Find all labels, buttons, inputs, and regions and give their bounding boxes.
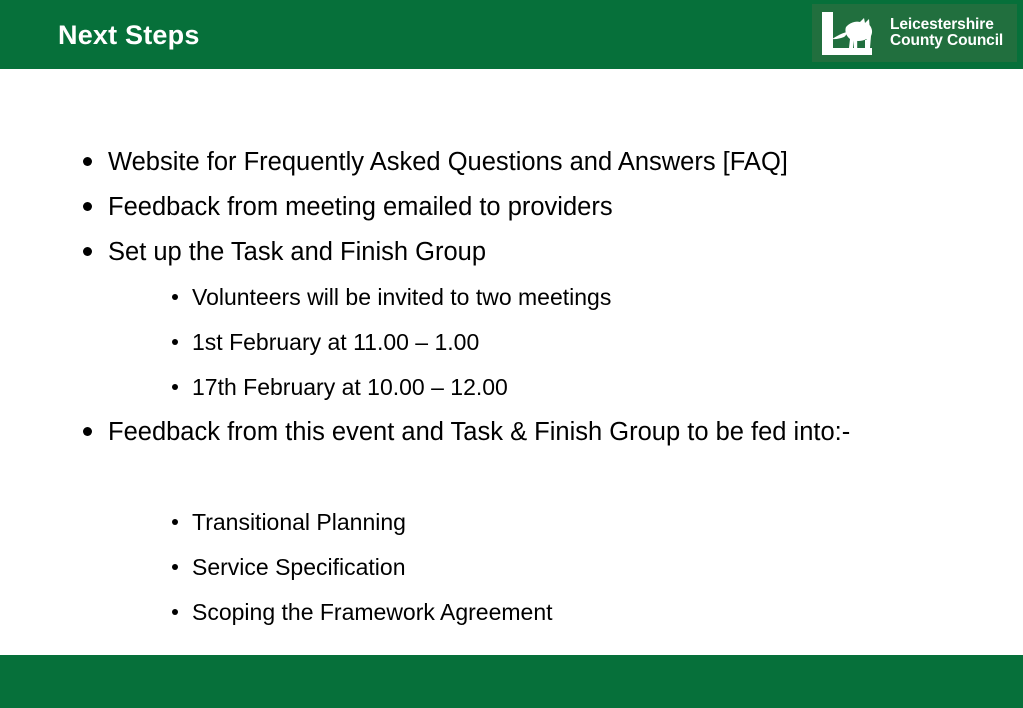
- sub-bullet-item: Service Specification: [0, 545, 1023, 590]
- sub-bullet-text: Volunteers will be invited to two meetin…: [192, 275, 1023, 320]
- bullet-text: Set up the Task and Finish Group: [108, 230, 1023, 275]
- sub-bullet-text: 1st February at 11.00 – 1.00: [192, 320, 1023, 365]
- sub-bullet-marker-icon: [172, 500, 184, 545]
- bullet-marker-icon: [83, 140, 95, 185]
- bullet-item: Feedback from meeting emailed to provide…: [0, 185, 1023, 230]
- sub-bullet-text: Transitional Planning: [192, 500, 1023, 545]
- bullet-text: Feedback from meeting emailed to provide…: [108, 185, 1023, 230]
- bullet-marker-icon: [83, 230, 95, 275]
- page-title: Next Steps: [58, 22, 200, 49]
- sub-bullet-item: 17th February at 10.00 – 12.00: [0, 365, 1023, 410]
- bullet-marker-icon: [83, 185, 95, 230]
- logo-wordmark: Leicestershire County Council: [890, 17, 1003, 49]
- leicestershire-fox-emblem: [818, 9, 884, 57]
- sub-bullet-marker-icon: [172, 275, 184, 320]
- logo-line-2: County Council: [890, 33, 1003, 49]
- sub-bullet-item: Volunteers will be invited to two meetin…: [0, 275, 1023, 320]
- logo-line-1: Leicestershire: [890, 16, 994, 33]
- sub-bullet-text: 17th February at 10.00 – 12.00: [192, 365, 1023, 410]
- sub-bullet-item: 1st February at 11.00 – 1.00: [0, 320, 1023, 365]
- bullet-text: Website for Frequently Asked Questions a…: [108, 140, 1023, 185]
- sub-bullet-item: Scoping the Framework Agreement: [0, 590, 1023, 635]
- sub-bullet-marker-icon: [172, 365, 184, 410]
- slide-canvas: Next Steps Leicestershire County Council: [0, 0, 1023, 708]
- bullet-item: Feedback from this event and Task & Fini…: [0, 410, 988, 500]
- bullet-text: Feedback from this event and Task & Fini…: [108, 410, 988, 455]
- sub-bullet-marker-icon: [172, 590, 184, 635]
- footer-bar: [0, 655, 1023, 708]
- header-bar: Next Steps Leicestershire County Council: [0, 0, 1023, 69]
- sub-bullet-item: Transitional Planning: [0, 500, 1023, 545]
- sub-bullet-marker-icon: [172, 545, 184, 590]
- sub-bullet-text: Service Specification: [192, 545, 1023, 590]
- bullet-item: Website for Frequently Asked Questions a…: [0, 140, 1023, 185]
- bullet-marker-icon: [83, 410, 95, 455]
- bullet-item: Set up the Task and Finish Group: [0, 230, 1023, 275]
- sub-bullet-text: Scoping the Framework Agreement: [192, 590, 1023, 635]
- logo: Leicestershire County Council: [812, 4, 1017, 62]
- sub-bullet-marker-icon: [172, 320, 184, 365]
- slide-body: Website for Frequently Asked Questions a…: [0, 140, 1023, 635]
- bullet-list: Website for Frequently Asked Questions a…: [0, 140, 1023, 635]
